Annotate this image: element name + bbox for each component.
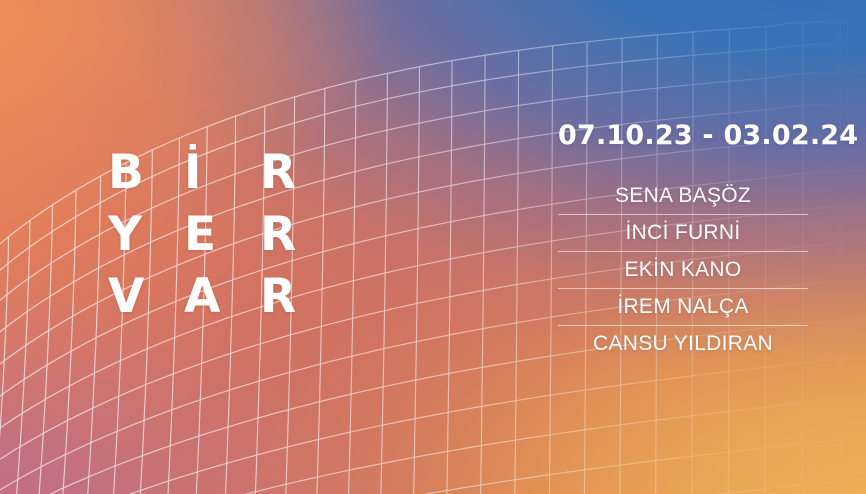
artist-name: İREM NALÇA — [558, 288, 808, 325]
date-range: 07.10.23 - 03.02.24 — [558, 120, 808, 152]
artist-name: CANSU YILDIRAN — [558, 325, 808, 362]
title-letter-r1c1: E — [184, 204, 260, 266]
title-letter-r0c1: İ — [184, 142, 260, 204]
artist-name: EKİN KANO — [558, 251, 808, 288]
title-letter-r1c2: R — [260, 204, 336, 266]
artist-list: SENA BAŞÖZ İNCİ FURNİ EKİN KANO İREM NAL… — [558, 178, 808, 362]
artist-name: SENA BAŞÖZ — [558, 178, 808, 214]
exhibition-poster: B İ R Y E R V A R 07.10.23 - 03.02.24 SE… — [0, 0, 866, 494]
title-letter-r0c2: R — [260, 142, 336, 204]
artist-name: İNCİ FURNİ — [558, 214, 808, 251]
title-letter-r2c2: R — [260, 266, 336, 328]
title-letter-r0c0: B — [108, 142, 184, 204]
title-letter-grid: B İ R Y E R V A R — [108, 142, 336, 328]
exhibition-info: 07.10.23 - 03.02.24 SENA BAŞÖZ İNCİ FURN… — [558, 120, 808, 362]
title-letter-r1c0: Y — [108, 204, 184, 266]
title-letter-r2c0: V — [108, 266, 184, 328]
title-letter-r2c1: A — [184, 266, 260, 328]
